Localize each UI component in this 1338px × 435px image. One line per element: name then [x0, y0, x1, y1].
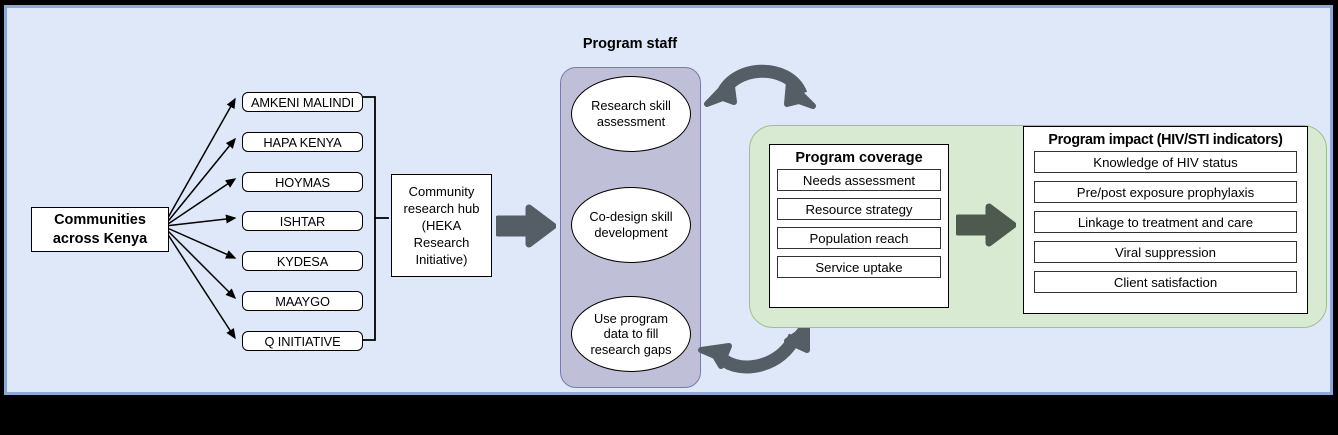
impact-item-linkage-to-treatment-and-care[interactable]: Linkage to treatment and care: [1034, 211, 1297, 233]
communities-box: Communities across Kenya: [31, 207, 169, 252]
org-label: HAPA KENYA: [263, 135, 341, 150]
activity-label-line1: Research skill: [591, 98, 671, 113]
program-impact-box: Program impact (HIV/STI indicators) Know…: [1023, 126, 1308, 314]
hub-label-line4: Research: [414, 235, 470, 250]
activity-label: Co-design skill development: [589, 209, 672, 240]
program-coverage-box: Program coverage Needs assessment Resour…: [769, 144, 949, 308]
hub-label-line2: research hub: [404, 201, 480, 216]
activity-ellipse-co-design-skill-development[interactable]: Co-design skill development: [571, 187, 691, 263]
communities-label-line2: across Kenya: [53, 231, 147, 247]
activity-label-line2: data to fill: [604, 326, 659, 341]
program-staff-title: Program staff: [560, 36, 700, 52]
impact-item-viral-suppression[interactable]: Viral suppression: [1034, 241, 1297, 263]
impact-item-pre-post-exposure-prophylaxis[interactable]: Pre/post exposure prophylaxis: [1034, 181, 1297, 203]
org-box-maaygo[interactable]: MAAYGO: [242, 291, 363, 311]
coverage-item-resource-strategy[interactable]: Resource strategy: [777, 198, 941, 220]
diagram-canvas: Communities across Kenya AMKENI MALINDI …: [0, 0, 1338, 435]
staff-outcomes-top-curved-arrow-icon: [701, 54, 821, 124]
org-label: MAAYGO: [275, 294, 330, 309]
hub-label-line1: Community: [409, 184, 475, 199]
coverage-item-population-reach[interactable]: Population reach: [777, 227, 941, 249]
activity-label-line1: Co-design skill: [589, 209, 672, 224]
org-box-q-initiative[interactable]: Q INITIATIVE: [242, 331, 363, 351]
program-impact-title: Program impact (HIV/STI indicators): [1024, 127, 1307, 151]
activity-label-line2: assessment: [597, 114, 665, 129]
activity-label-line2: development: [594, 225, 667, 240]
orgs-to-hub-bracket: [359, 97, 388, 340]
impact-item-client-satisfaction[interactable]: Client satisfaction: [1034, 271, 1297, 293]
org-box-amkeni-malindi[interactable]: AMKENI MALINDI: [242, 92, 363, 112]
impact-item-knowledge-of-hiv-status[interactable]: Knowledge of HIV status: [1034, 151, 1297, 173]
coverage-item-needs-assessment[interactable]: Needs assessment: [777, 169, 941, 191]
communities-fanout-arrows: [165, 99, 235, 338]
communities-label-line1: Communities: [54, 212, 146, 228]
hub-label-line5: Initiative): [415, 252, 467, 267]
coverage-item-service-uptake[interactable]: Service uptake: [777, 256, 941, 278]
org-box-hapa-kenya[interactable]: HAPA KENYA: [242, 132, 363, 152]
org-label: AMKENI MALINDI: [251, 95, 354, 110]
org-label: ISHTAR: [280, 214, 325, 229]
activity-ellipse-use-program-data[interactable]: Use program data to fill research gaps: [571, 296, 691, 372]
activity-label: Use program data to fill research gaps: [590, 311, 671, 358]
activity-label-line3: research gaps: [590, 342, 671, 357]
program-coverage-title: Program coverage: [770, 145, 948, 169]
communities-label: Communities across Kenya: [53, 211, 147, 247]
slide-panel: Communities across Kenya AMKENI MALINDI …: [4, 5, 1333, 395]
org-box-hoymas[interactable]: HOYMAS: [242, 172, 363, 192]
org-label: Q INITIATIVE: [264, 334, 340, 349]
org-label: HOYMAS: [275, 175, 330, 190]
hub-label-line3: (HEKA: [422, 218, 462, 233]
activity-label-line1: Use program: [594, 311, 668, 326]
activity-ellipse-research-skill-assessment[interactable]: Research skill assessment: [571, 76, 691, 152]
community-research-hub-box: Community research hub (HEKA Research In…: [391, 174, 492, 277]
coverage-to-impact-arrow-icon: [956, 203, 1016, 247]
org-label: KYDESA: [277, 254, 328, 269]
activity-label: Research skill assessment: [591, 98, 671, 129]
hub-to-staff-arrow-icon: [496, 204, 556, 248]
org-box-kydesa[interactable]: KYDESA: [242, 251, 363, 271]
hub-label: Community research hub (HEKA Research In…: [404, 183, 480, 269]
org-box-ishtar[interactable]: ISHTAR: [242, 211, 363, 231]
